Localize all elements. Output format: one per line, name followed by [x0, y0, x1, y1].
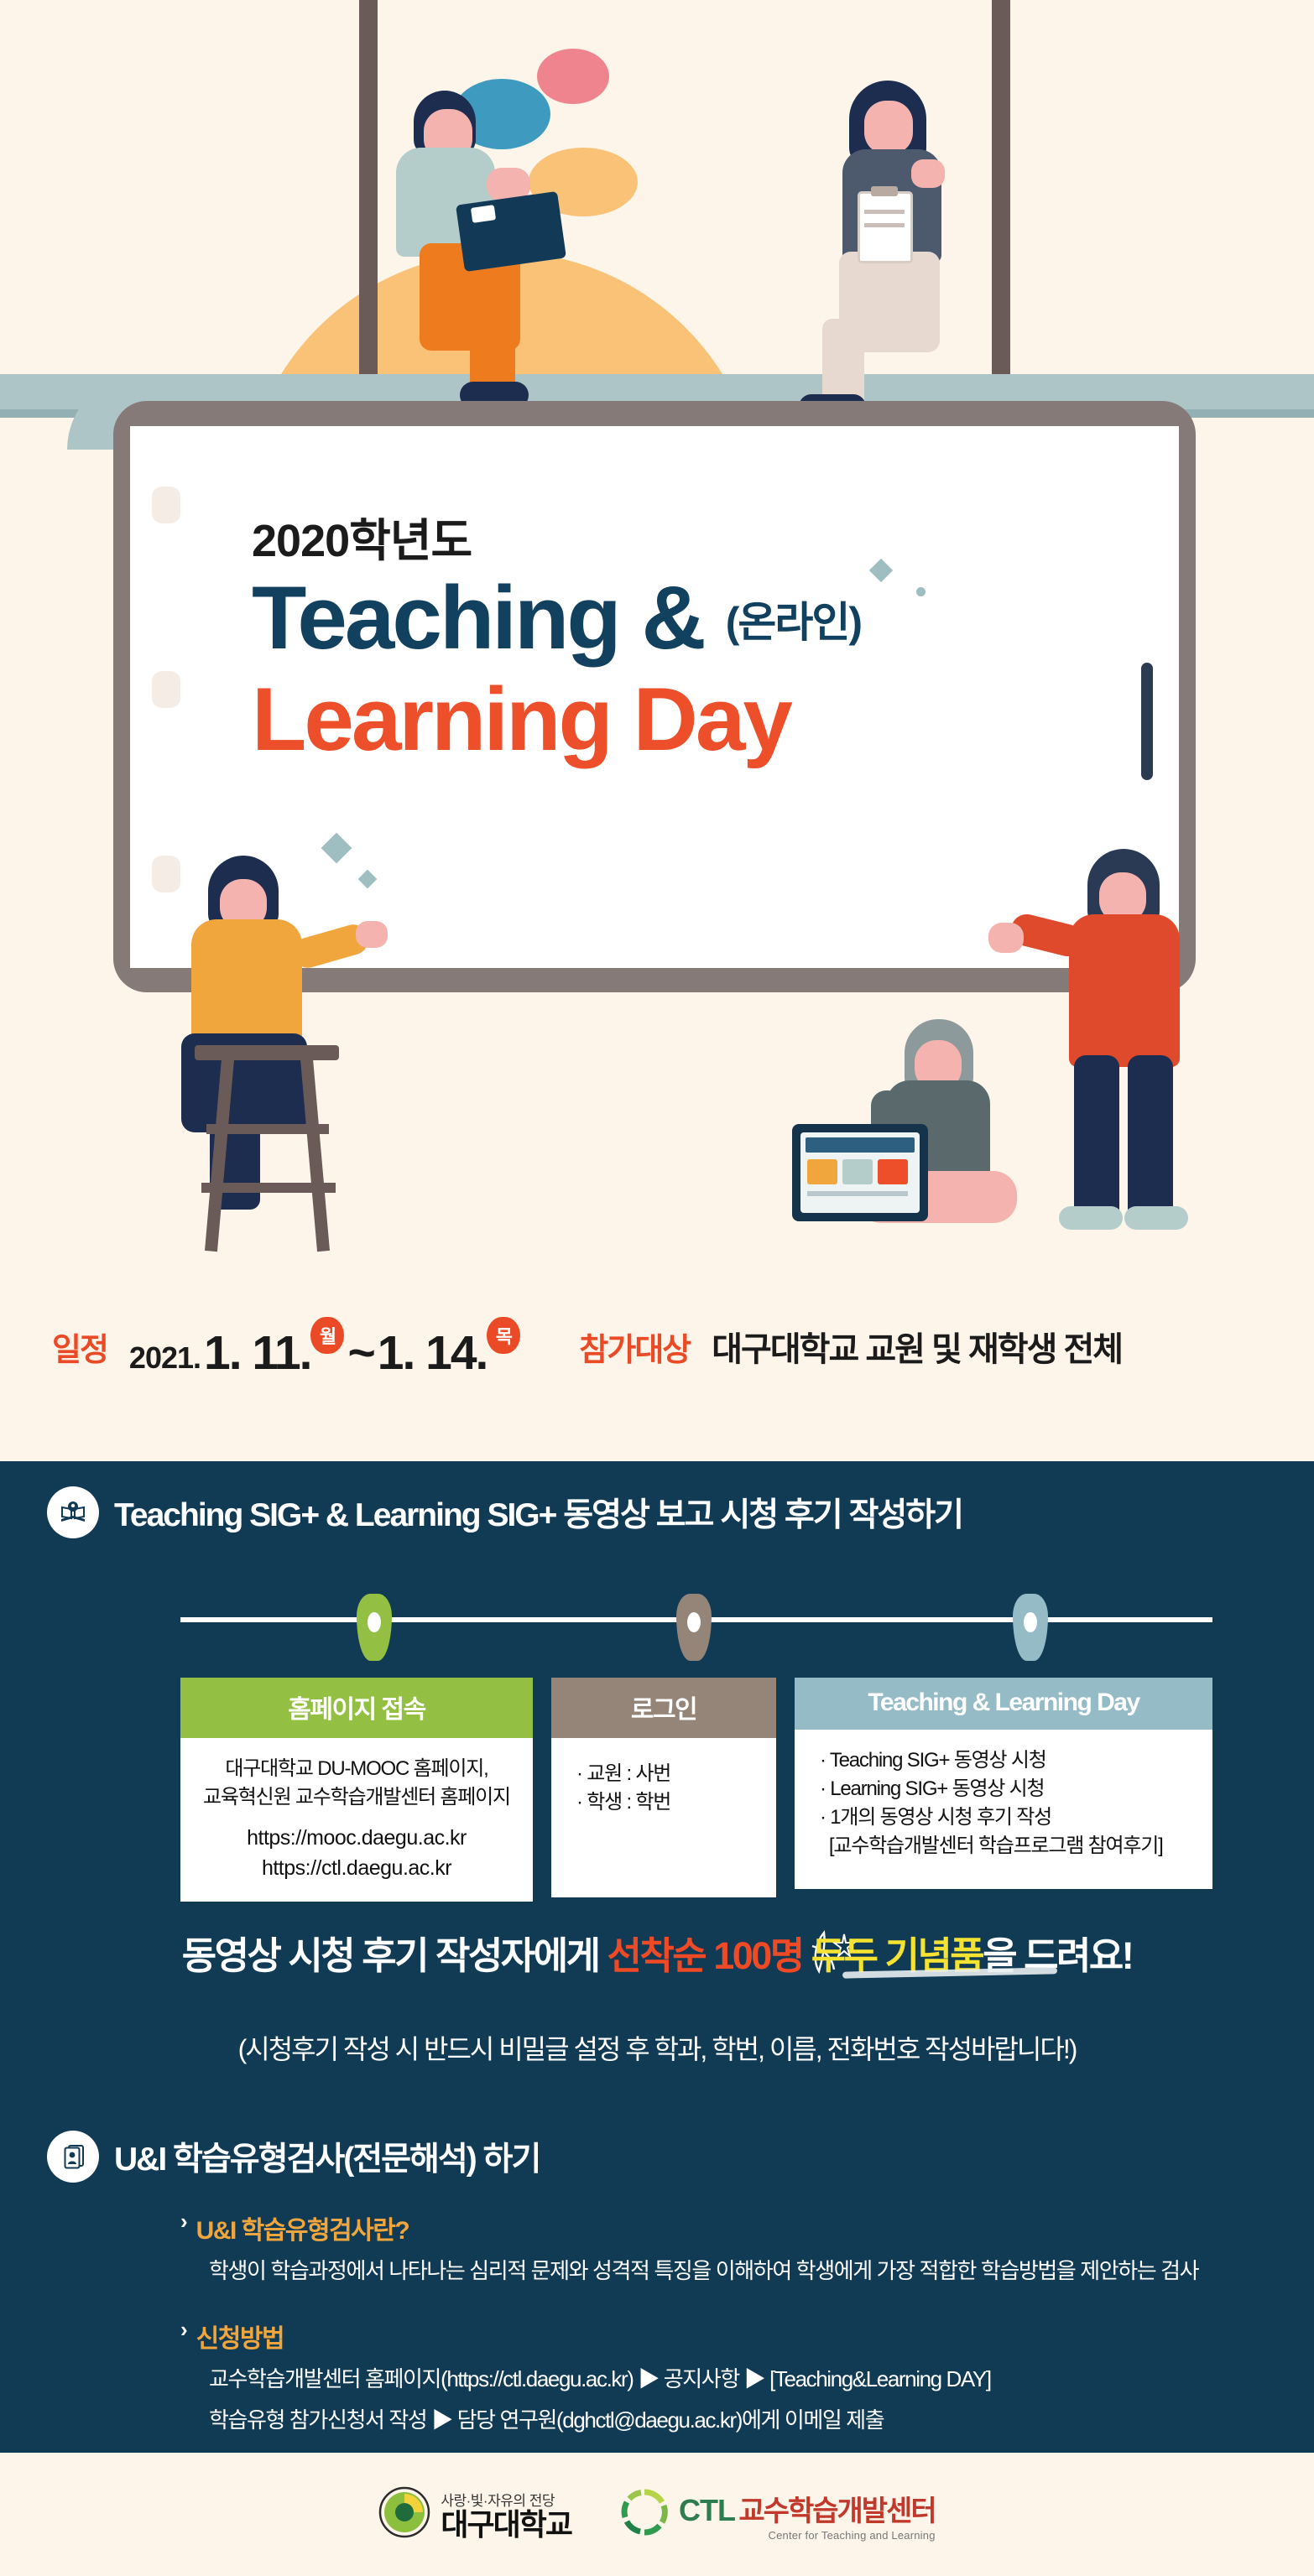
date-start: 1. 11. [204, 1330, 310, 1376]
audience-value: 대구대학교 교원 및 재학생 전체 [712, 1322, 1122, 1371]
section2-item-2-line-2: 학습유형 참가신청서 작성 ▶ 담당 연구원(dghctl@daegu.ac.k… [209, 2404, 1271, 2437]
title-online-tag: (온라인) [726, 589, 861, 663]
speech-bubble-pink [537, 49, 609, 104]
day-badge-start: 월 [310, 1317, 344, 1354]
step-card-3-header: Teaching & Learning Day [795, 1678, 1212, 1730]
chevron-right-icon-1: › [180, 2209, 188, 2234]
title-year: 2020학년도 [252, 503, 1175, 570]
hanging-strap-left [359, 0, 378, 398]
section2-item-1-line-1: 학생이 학습과정에서 나타나는 심리적 문제와 성격적 특징을 이해하여 학생에… [209, 2255, 1271, 2287]
step1-line-1: 대구대학교 DU-MOOC 홈페이지, [192, 1755, 521, 1783]
section2-item-2-heading: 신청방법 [196, 2318, 284, 2355]
timeline-pin-1 [357, 1594, 392, 1661]
section2-item-2-line-1: 교수학습개발센터 홈페이지(https://ctl.daegu.ac.kr) ▶… [209, 2363, 1271, 2396]
gift-note: (시청후기 작성 시 반드시 비밀글 설정 후 학과, 학번, 이름, 전화번호… [0, 2028, 1314, 2067]
section1-header: Teaching SIG+ & Learning SIG+ 동영상 보고 시청 … [0, 1461, 1314, 1538]
schedule-value: 2021. 1. 11. 월 ~ 1. 14. 목 [129, 1317, 520, 1376]
hanging-strap-right [992, 0, 1010, 394]
section2-item-2: › 신청방법 교수학습개발센터 홈페이지(https://ctl.daegu.a… [180, 2318, 1271, 2437]
step-card-1-body: 대구대학교 DU-MOOC 홈페이지, 교육혁신원 교수학습개발센터 홈페이지 … [180, 1738, 533, 1902]
step1-url-2[interactable]: https://ctl.daegu.ac.kr [192, 1854, 521, 1884]
film-hole-1 [152, 487, 180, 523]
ctl-english-name: Center for Teaching and Learning [679, 2529, 936, 2542]
title-main: Teaching & [252, 573, 704, 663]
step3-line-4: [교수학습개발센터 학습프로그램 참여후기] [820, 1832, 1201, 1860]
step-card-3-body: · Teaching SIG+ 동영상 시청 · Learning SIG+ 동… [795, 1730, 1212, 1889]
date-end: 1. 14. [378, 1330, 488, 1376]
step-card-1: 홈페이지 접속 대구대학교 DU-MOOC 홈페이지, 교육혁신원 교수학습개발… [180, 1678, 533, 1902]
poster-title-block: 2020학년도 Teaching & (온라인) Learning Day [252, 503, 1175, 764]
timeline-pin-2 [676, 1594, 712, 1661]
hero-section: 2020학년도 Teaching & (온라인) Learning Day [0, 0, 1314, 1461]
open-book-pin-icon [47, 1486, 99, 1538]
section2-item-1: › U&I 학습유형검사란? 학생이 학습과정에서 나타나는 심리적 문제와 성… [180, 2209, 1271, 2287]
audience-label: 참가대상 [579, 1324, 690, 1370]
university-logo: 사랑·빛·자유의 전당 대구대학교 [378, 2486, 571, 2542]
film-hole-3 [152, 856, 180, 892]
ctl-circle-icon [620, 2488, 669, 2541]
step3-line-3: · 1개의 동영상 시청 후기 작성 [820, 1803, 1201, 1832]
gift-headline: 동영상 시청 후기 작성자에게 선착순 100명 두두 기념품을 드려요! [0, 1925, 1314, 1980]
chevron-right-icon-2: › [180, 2318, 188, 2342]
event-info-bar: 일정 2021. 1. 11. 월 ~ 1. 14. 목 참가대상 대구대학교 … [0, 1304, 1314, 1388]
section2-header: U&I 학습유형검사(전문해석) 하기 [0, 2131, 1314, 2183]
ctl-abbreviation: CTL [679, 2493, 735, 2527]
step3-line-1: · Teaching SIG+ 동영상 시청 [820, 1746, 1201, 1775]
section2-body: › U&I 학습유형검사란? 학생이 학습과정에서 나타나는 심리적 문제와 성… [180, 2209, 1271, 2437]
section2-item-1-heading: U&I 학습유형검사란? [196, 2209, 409, 2246]
step-card-2: 로그인 · 교원 : 사번 · 학생 : 학번 [551, 1678, 776, 1897]
section1-title: Teaching SIG+ & Learning SIG+ 동영상 보고 시청 … [114, 1489, 962, 1536]
id-card-document-icon [47, 2131, 99, 2183]
step2-line-1: · 교원 : 사번 [576, 1760, 764, 1788]
day-badge-end: 목 [487, 1317, 520, 1354]
university-emblem-icon [378, 2486, 430, 2542]
step-card-2-body: · 교원 : 사번 · 학생 : 학번 [551, 1738, 776, 1897]
section2-title: U&I 학습유형검사(전문해석) 하기 [114, 2133, 540, 2180]
step-card-3: Teaching & Learning Day · Teaching SIG+ … [795, 1678, 1212, 1889]
steps-container: 홈페이지 접속 대구대학교 DU-MOOC 홈페이지, 교육혁신원 교수학습개발… [180, 1678, 1212, 1902]
schedule-year: 2021. [129, 1340, 201, 1376]
film-hole-2 [152, 671, 180, 708]
step-card-2-header: 로그인 [551, 1678, 776, 1738]
ctl-logo: CTL 교수학습개발센터 Center for Teaching and Lea… [620, 2488, 936, 2542]
title-sub: Learning Day [252, 674, 1175, 764]
step2-line-2: · 학생 : 학번 [576, 1788, 764, 1817]
step-card-1-header: 홈페이지 접속 [180, 1678, 533, 1738]
gift-text-count: 선착순 100명 [607, 1934, 803, 1977]
ctl-korean-name: 교수학습개발센터 [738, 2495, 935, 2527]
timeline-pin-3 [1013, 1594, 1048, 1661]
footer: 사랑·빛·자유의 전당 대구대학교 CTL 교수학습개발센터 Ce [0, 2453, 1314, 2576]
step3-line-2: · Learning SIG+ 동영상 시청 [820, 1775, 1201, 1803]
date-range-separator: ~ [347, 1330, 373, 1376]
schedule-label: 일정 [52, 1324, 107, 1370]
gift-text-pre: 동영상 시청 후기 작성자에게 [182, 1934, 607, 1977]
step1-line-2: 교육혁신원 교수학습개발센터 홈페이지 [192, 1783, 521, 1812]
university-name: 대구대학교 [441, 2510, 571, 2540]
step1-url-1[interactable]: https://mooc.daegu.ac.kr [192, 1824, 521, 1854]
